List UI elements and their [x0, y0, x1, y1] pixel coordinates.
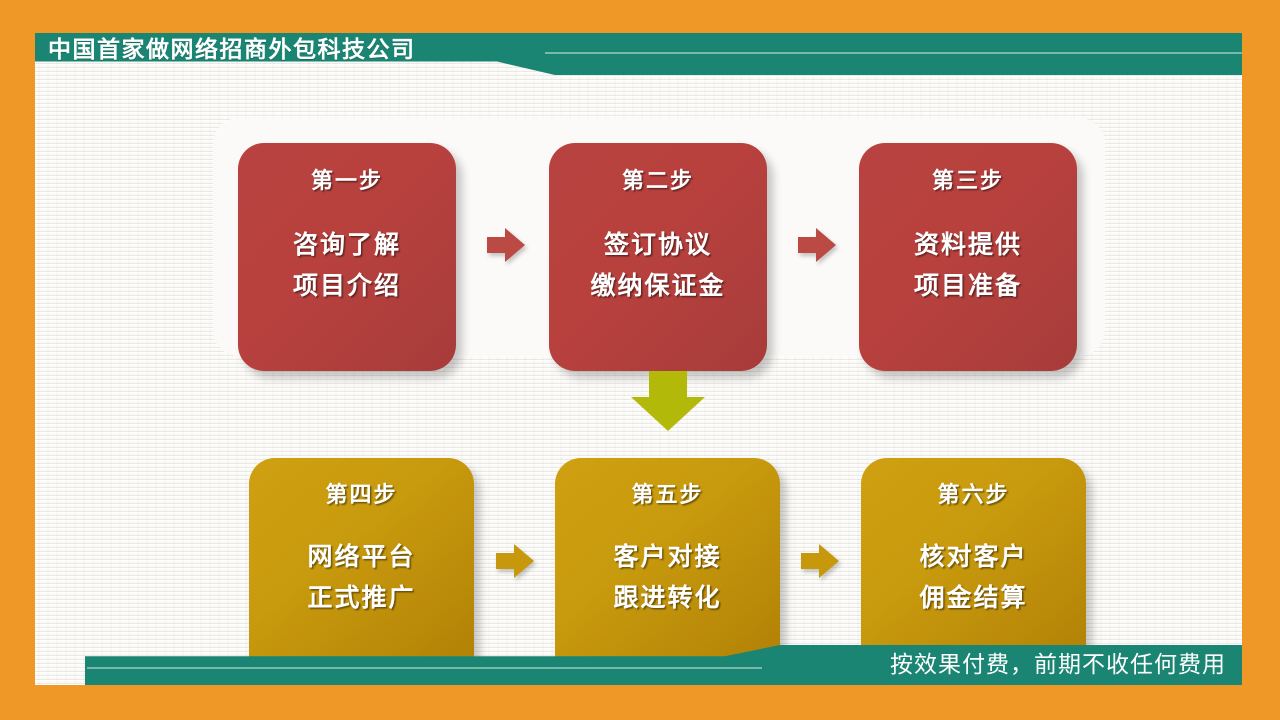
arrow-down-icon — [631, 371, 705, 431]
step-card-5-line-2: 跟进转化 — [613, 578, 721, 619]
footer-tagline: 按效果付费，前期不收任何费用 — [890, 647, 1226, 681]
arrow-shaft — [798, 237, 818, 253]
arrow-right-icon — [487, 228, 525, 262]
step-card-5-line-1: 客户对接 — [613, 537, 721, 578]
footer-banner: 按效果付费，前期不收任何费用 — [35, 645, 1242, 685]
step-card-3-line-2: 项目准备 — [914, 266, 1022, 307]
step-card-5-title: 第五步 — [631, 481, 703, 509]
arrow-right-icon — [496, 544, 534, 578]
arrow-shaft — [649, 371, 687, 399]
arrow-head — [514, 544, 534, 578]
step-card-3-line-1: 资料提供 — [914, 225, 1022, 266]
step-card-2-line-2: 缴纳保证金 — [590, 266, 725, 307]
arrow-right-icon — [801, 544, 839, 578]
header-banner: 中国首家做网络招商外包科技公司 — [35, 33, 1242, 75]
arrow-shaft — [496, 553, 516, 569]
arrow-shaft — [487, 237, 507, 253]
step-card-2[interactable]: 第二步 签订协议 缴纳保证金 — [549, 143, 767, 371]
page-title: 中国首家做网络招商外包科技公司 — [48, 34, 416, 64]
step-card-4-line-2: 正式推广 — [307, 578, 415, 619]
step-card-6-body: 核对客户 佣金结算 — [919, 537, 1027, 619]
slide-canvas: 第一步 咨询了解 项目介绍 第二步 签订协议 缴纳保证金 — [35, 35, 1242, 685]
step-card-6-line-2: 佣金结算 — [919, 578, 1027, 619]
footer-banner-rule — [87, 667, 762, 669]
step-card-2-title: 第二步 — [622, 167, 694, 195]
step-card-4-title: 第四步 — [325, 481, 397, 509]
step-card-3-title: 第三步 — [932, 167, 1004, 195]
step-card-3-body: 资料提供 项目准备 — [914, 225, 1022, 307]
arrow-head — [631, 397, 705, 431]
step-card-1[interactable]: 第一步 咨询了解 项目介绍 — [238, 143, 456, 371]
step-card-1-line-2: 项目介绍 — [293, 266, 401, 307]
arrow-shaft — [801, 553, 821, 569]
step-card-4-body: 网络平台 正式推广 — [307, 537, 415, 619]
arrow-head — [505, 228, 525, 262]
header-banner-rule — [545, 52, 1242, 54]
arrow-head — [816, 228, 836, 262]
step-card-2-body: 签订协议 缴纳保证金 — [590, 225, 725, 307]
step-card-1-body: 咨询了解 项目介绍 — [293, 225, 401, 307]
step-card-3[interactable]: 第三步 资料提供 项目准备 — [859, 143, 1077, 371]
step-card-1-title: 第一步 — [311, 167, 383, 195]
step-card-6-title: 第六步 — [937, 481, 1009, 509]
slide-root: 第一步 咨询了解 项目介绍 第二步 签订协议 缴纳保证金 — [0, 0, 1280, 720]
arrow-head — [819, 544, 839, 578]
step-card-1-line-1: 咨询了解 — [293, 225, 401, 266]
step-card-2-line-1: 签订协议 — [604, 225, 712, 266]
step-card-5-body: 客户对接 跟进转化 — [613, 537, 721, 619]
arrow-right-icon — [798, 228, 836, 262]
step-card-6-line-1: 核对客户 — [919, 537, 1027, 578]
step-card-4-line-1: 网络平台 — [307, 537, 415, 578]
